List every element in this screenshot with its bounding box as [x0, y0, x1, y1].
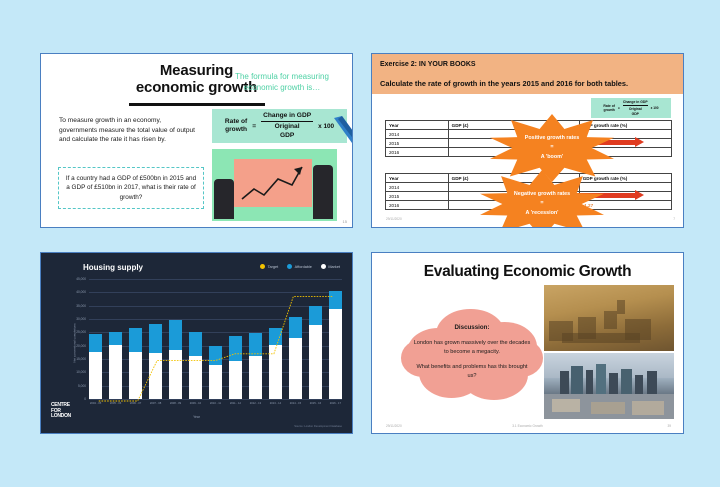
discussion-para2: What benefits and problems has this brou… — [412, 363, 532, 381]
legend-label: Target — [268, 265, 279, 269]
slide-housing-supply-chart[interactable]: Housing supply Target Affordable Market … — [40, 252, 353, 434]
centre-for-london-logo: CENTRE FOR LONDON — [51, 403, 71, 419]
bar-segment-affordable — [129, 328, 142, 352]
bar-segment-affordable — [209, 346, 222, 365]
formula-equals: = — [252, 123, 256, 130]
th-year: Year — [386, 121, 449, 130]
cell-year: 2016 — [386, 201, 449, 210]
mini-formula-fraction: Change in GDP Original GDP — [623, 100, 648, 116]
market-dot-icon — [321, 264, 326, 269]
star-line3: A 'boom' — [525, 153, 580, 162]
chart-source: Source: London Development Database — [294, 425, 342, 428]
slide-measuring-economic-growth[interactable]: Measuring economic growth To measure gro… — [40, 53, 353, 228]
bar-segment-affordable — [189, 332, 202, 355]
mini-formula-denom2: GDP — [623, 112, 648, 116]
chart-bar-column[interactable]: 2012 - 13 — [249, 279, 262, 399]
chart-y-tick: 0 — [84, 397, 86, 401]
chart-x-tick: 2004 - 05 — [90, 402, 101, 405]
pen-icon — [332, 116, 353, 146]
chart-y-tick: 25,000 — [76, 330, 86, 334]
slide4-footer-right: 39 — [667, 424, 671, 428]
chart-bar-column[interactable]: 2005 - 06 — [109, 279, 122, 399]
slide1-question-box: If a country had a GDP of £500bn in 2015… — [58, 167, 204, 209]
slide1-subtitle: The formula for measuring economic growt… — [217, 72, 347, 94]
chart-x-tick: 2015 - 16 — [310, 402, 321, 405]
slide4-footer-left: 29/11/2020 — [386, 424, 402, 428]
slide4-footer-center: 3.1 Economic Growth — [512, 424, 542, 428]
mini-formula-numerator: Change in GDP — [623, 100, 648, 104]
bar-segment-market — [309, 325, 322, 399]
mini-formula-equals: = — [618, 106, 620, 110]
discussion-para1: London has grown massively over the deca… — [412, 339, 532, 357]
chart-x-tick: 2005 - 06 — [110, 402, 121, 405]
hand-right — [313, 165, 333, 219]
legend-item-market[interactable]: Market — [321, 264, 340, 269]
star-line2: = — [514, 199, 570, 208]
chart-title: Housing supply — [83, 263, 143, 272]
bar-segment-affordable — [289, 317, 302, 339]
chart-y-tick: 15,000 — [76, 357, 86, 361]
slide-grid: Measuring economic growth To measure gro… — [0, 0, 720, 487]
logo-line3: LONDON — [51, 414, 71, 419]
bar-segment-affordable — [109, 332, 122, 346]
chart-x-tick: 2011 - 12 — [230, 402, 241, 405]
chart-x-tick: 2006 - 07 — [130, 402, 141, 405]
star-line1: Positive growth rates — [525, 134, 580, 143]
historic-london-photo — [544, 285, 674, 351]
legend-item-target[interactable]: Target — [260, 264, 278, 269]
chart-x-axis-label: Year — [41, 415, 352, 419]
slide-exercise-2[interactable]: Exercise 2: IN YOUR BOOKS Calculate the … — [371, 53, 684, 228]
chart-y-tick: 10,000 — [76, 370, 86, 374]
chart-bar-column[interactable]: 2010 - 11 — [209, 279, 222, 399]
slide1-page-number: 15 — [343, 219, 347, 224]
cell-year: 2015 — [386, 192, 449, 201]
cell-year: 2016 — [386, 148, 449, 157]
bar-segment-affordable — [269, 328, 282, 345]
exercise-heading: Exercise 2: IN YOUR BOOKS — [380, 61, 476, 68]
chart-y-tick: 45,000 — [76, 277, 86, 281]
bar-segment-market — [329, 309, 342, 399]
chart-bar-column[interactable]: 2006 - 07 — [129, 279, 142, 399]
chart-bars: 2004 - 052005 - 062006 - 072007 - 082008… — [89, 279, 342, 399]
modern-london-photo — [544, 353, 674, 419]
bar-segment-market — [169, 350, 182, 399]
chart-y-tick: 40,000 — [76, 290, 86, 294]
chart-y-tick: 35,000 — [76, 304, 86, 308]
mini-formula-lhs: Rate of growth — [603, 104, 615, 112]
chart-bar-column[interactable]: 2007 - 08 — [149, 279, 162, 399]
bar-segment-affordable — [309, 306, 322, 325]
slide1-subtitle-line1: The formula for measuring — [217, 72, 347, 83]
chart-legend: Target Affordable Market — [260, 264, 340, 269]
formula-lhs-line1: Rate of — [225, 118, 247, 126]
bar-segment-affordable — [169, 320, 182, 350]
slide2-footer-right: 7 — [673, 217, 675, 221]
starburst-recession: Negative growth rates = A 'recession' — [480, 170, 604, 228]
discussion-cloud: Discussion: London has grown massively o… — [398, 301, 546, 406]
bar-segment-market — [229, 361, 242, 399]
slide4-title: Evaluating Economic Growth — [372, 263, 683, 281]
star-text: Negative growth rates = A 'recession' — [514, 190, 570, 218]
mini-formula-lhs-line2: growth — [603, 108, 615, 112]
formula-lhs-line2: growth — [225, 126, 247, 134]
chart-x-tick: 2014 - 15 — [290, 402, 301, 405]
chart-y-tick: 20,000 — [76, 344, 86, 348]
discussion-heading: Discussion: — [412, 323, 532, 333]
growth-arrow-graph — [234, 159, 312, 207]
legend-label: Market — [328, 265, 340, 269]
chart-x-tick: 2016 - 17 — [330, 402, 341, 405]
discussion-text: Discussion: London has grown massively o… — [412, 317, 532, 393]
bar-segment-affordable — [229, 336, 242, 361]
slide2-footer-left: 29/11/2020 — [386, 217, 402, 221]
cell-year: 2014 — [386, 130, 449, 139]
chart-bar-column[interactable]: 2014 - 15 — [289, 279, 302, 399]
slide1-body-text: To measure growth in an economy, governm… — [59, 116, 199, 145]
bar-segment-affordable — [149, 324, 162, 352]
chart-bar-column[interactable]: 2016 - 17 — [329, 279, 342, 399]
chart-y-tick: 30,000 — [76, 317, 86, 321]
chart-x-tick: 2013 - 14 — [270, 402, 281, 405]
bar-segment-market — [89, 352, 102, 399]
bar-segment-market — [129, 352, 142, 399]
formula-numerator: Change in GDP — [261, 112, 313, 120]
star-line1: Negative growth rates — [514, 190, 570, 199]
star-text: Positive growth rates = A 'boom' — [525, 134, 580, 162]
bar-segment-affordable — [89, 334, 102, 352]
chart-x-tick: 2010 - 11 — [210, 402, 221, 405]
bar-segment-market — [289, 338, 302, 399]
arrow-head — [635, 137, 644, 147]
formula-denominator-line2: GDP — [261, 132, 313, 140]
formula-lhs: Rate of growth — [225, 118, 247, 134]
chart-y-tick: 5,000 — [78, 384, 86, 388]
formula-denominator-line1: Original — [261, 123, 313, 131]
target-dot-icon — [260, 264, 265, 269]
arrow-head — [635, 190, 644, 200]
bar-segment-market — [149, 353, 162, 399]
chart-x-tick: 2009 - 10 — [190, 402, 201, 405]
bar-segment-market — [269, 345, 282, 399]
star-line2: = — [525, 143, 580, 152]
slide1-subtitle-line2: economic growth is… — [217, 83, 347, 94]
bar-segment-affordable — [329, 291, 342, 309]
chart-paper — [234, 159, 312, 207]
star-line3: A 'recession' — [514, 209, 570, 218]
growth-formula-box: Rate of growth = Change in GDP Original … — [212, 109, 347, 143]
affordable-dot-icon — [287, 264, 292, 269]
chart-x-tick: 2007 - 08 — [150, 402, 161, 405]
fraction-bar — [261, 121, 313, 122]
bar-segment-market — [209, 365, 222, 399]
exercise-banner — [372, 54, 683, 94]
chart-x-tick: 2008 - 09 — [170, 402, 181, 405]
chart-bar-column[interactable]: 2011 - 12 — [229, 279, 242, 399]
bar-segment-market — [249, 356, 262, 399]
chart-bar-column[interactable]: 2009 - 10 — [189, 279, 202, 399]
slide-evaluating-economic-growth[interactable]: Evaluating Economic Growth Discussion: L… — [371, 252, 684, 434]
chart-bar-column[interactable]: 2008 - 09 — [169, 279, 182, 399]
bar-segment-affordable — [249, 333, 262, 355]
chart-plot-area: 05,00010,00015,00020,00025,00030,00035,0… — [89, 279, 342, 399]
legend-label: Affordable — [295, 265, 312, 269]
mini-fraction-bar — [623, 105, 648, 106]
chart-bar-column[interactable]: 2015 - 16 — [309, 279, 322, 399]
cell-year: 2015 — [386, 139, 449, 148]
bar-segment-market — [109, 345, 122, 399]
chart-gridline — [89, 399, 342, 400]
chart-x-tick: 2012 - 13 — [250, 402, 261, 405]
chart-bar-column[interactable]: 2013 - 14 — [269, 279, 282, 399]
formula-fraction: Change in GDP Original GDP — [261, 112, 313, 140]
cell-year: 2014 — [386, 183, 449, 192]
legend-item-affordable[interactable]: Affordable — [287, 264, 312, 269]
mini-formula-multiplier: x 100 — [651, 106, 659, 110]
slide1-illustration — [212, 149, 337, 221]
th-year: Year — [386, 174, 449, 183]
exercise-instruction: Calculate the rate of growth in the year… — [380, 79, 628, 88]
hand-left — [214, 179, 234, 219]
title-underline — [129, 103, 265, 106]
chart-bar-column[interactable]: 2004 - 05 — [89, 279, 102, 399]
bar-segment-market — [189, 356, 202, 399]
